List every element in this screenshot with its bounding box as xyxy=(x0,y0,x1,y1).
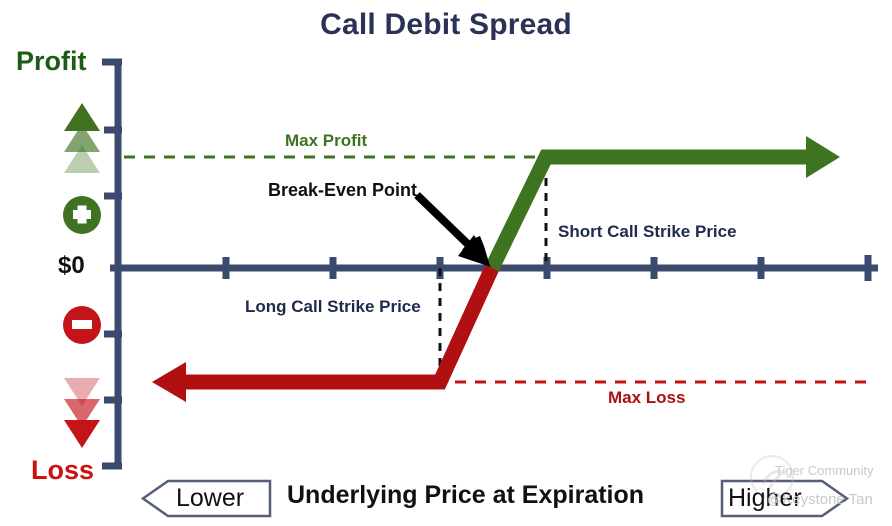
x-axis-title: Underlying Price at Expiration xyxy=(287,483,644,508)
watermark-brand-text: Tiger Community xyxy=(775,464,873,477)
triple-down-arrow-icon xyxy=(64,378,100,448)
break-even-pointer-icon xyxy=(417,195,491,267)
short-call-strike-label: Short Call Strike Price xyxy=(558,223,737,240)
loss-leg-line xyxy=(176,268,492,382)
watermark-user-text: @Keystone Tan xyxy=(767,492,873,507)
plus-circle-icon xyxy=(63,196,101,234)
y-axis-loss-label: Loss xyxy=(31,457,94,484)
minus-circle-icon xyxy=(63,306,101,344)
long-call-strike-label: Long Call Strike Price xyxy=(245,298,421,315)
break-even-pointer-shaft xyxy=(417,195,476,252)
max-loss-label: Max Loss xyxy=(608,389,685,406)
max-profit-label: Max Profit xyxy=(285,132,367,149)
page-title: Call Debit Spread xyxy=(0,10,892,40)
y-axis-zero-label: $0 xyxy=(58,254,85,278)
lower-direction-label: Lower xyxy=(176,486,244,511)
profit-leg-right-arrowhead xyxy=(806,136,840,178)
payoff-chart-svg xyxy=(0,0,892,526)
minus-circle-bar xyxy=(72,320,92,329)
payoff-diagram-canvas: Call Debit Spread Profit Loss $0 Max Pro… xyxy=(0,0,892,526)
plus-circle-bar-v xyxy=(78,206,87,224)
down-arrow-3 xyxy=(64,420,100,448)
loss-leg-left-arrowhead xyxy=(152,362,186,402)
profit-payoff-leg xyxy=(492,136,840,268)
y-axis-profit-label: Profit xyxy=(16,48,87,75)
triple-up-arrow-icon xyxy=(64,103,100,173)
break-even-point-label: Break-Even Point xyxy=(268,181,417,199)
profit-leg-line xyxy=(492,157,818,268)
